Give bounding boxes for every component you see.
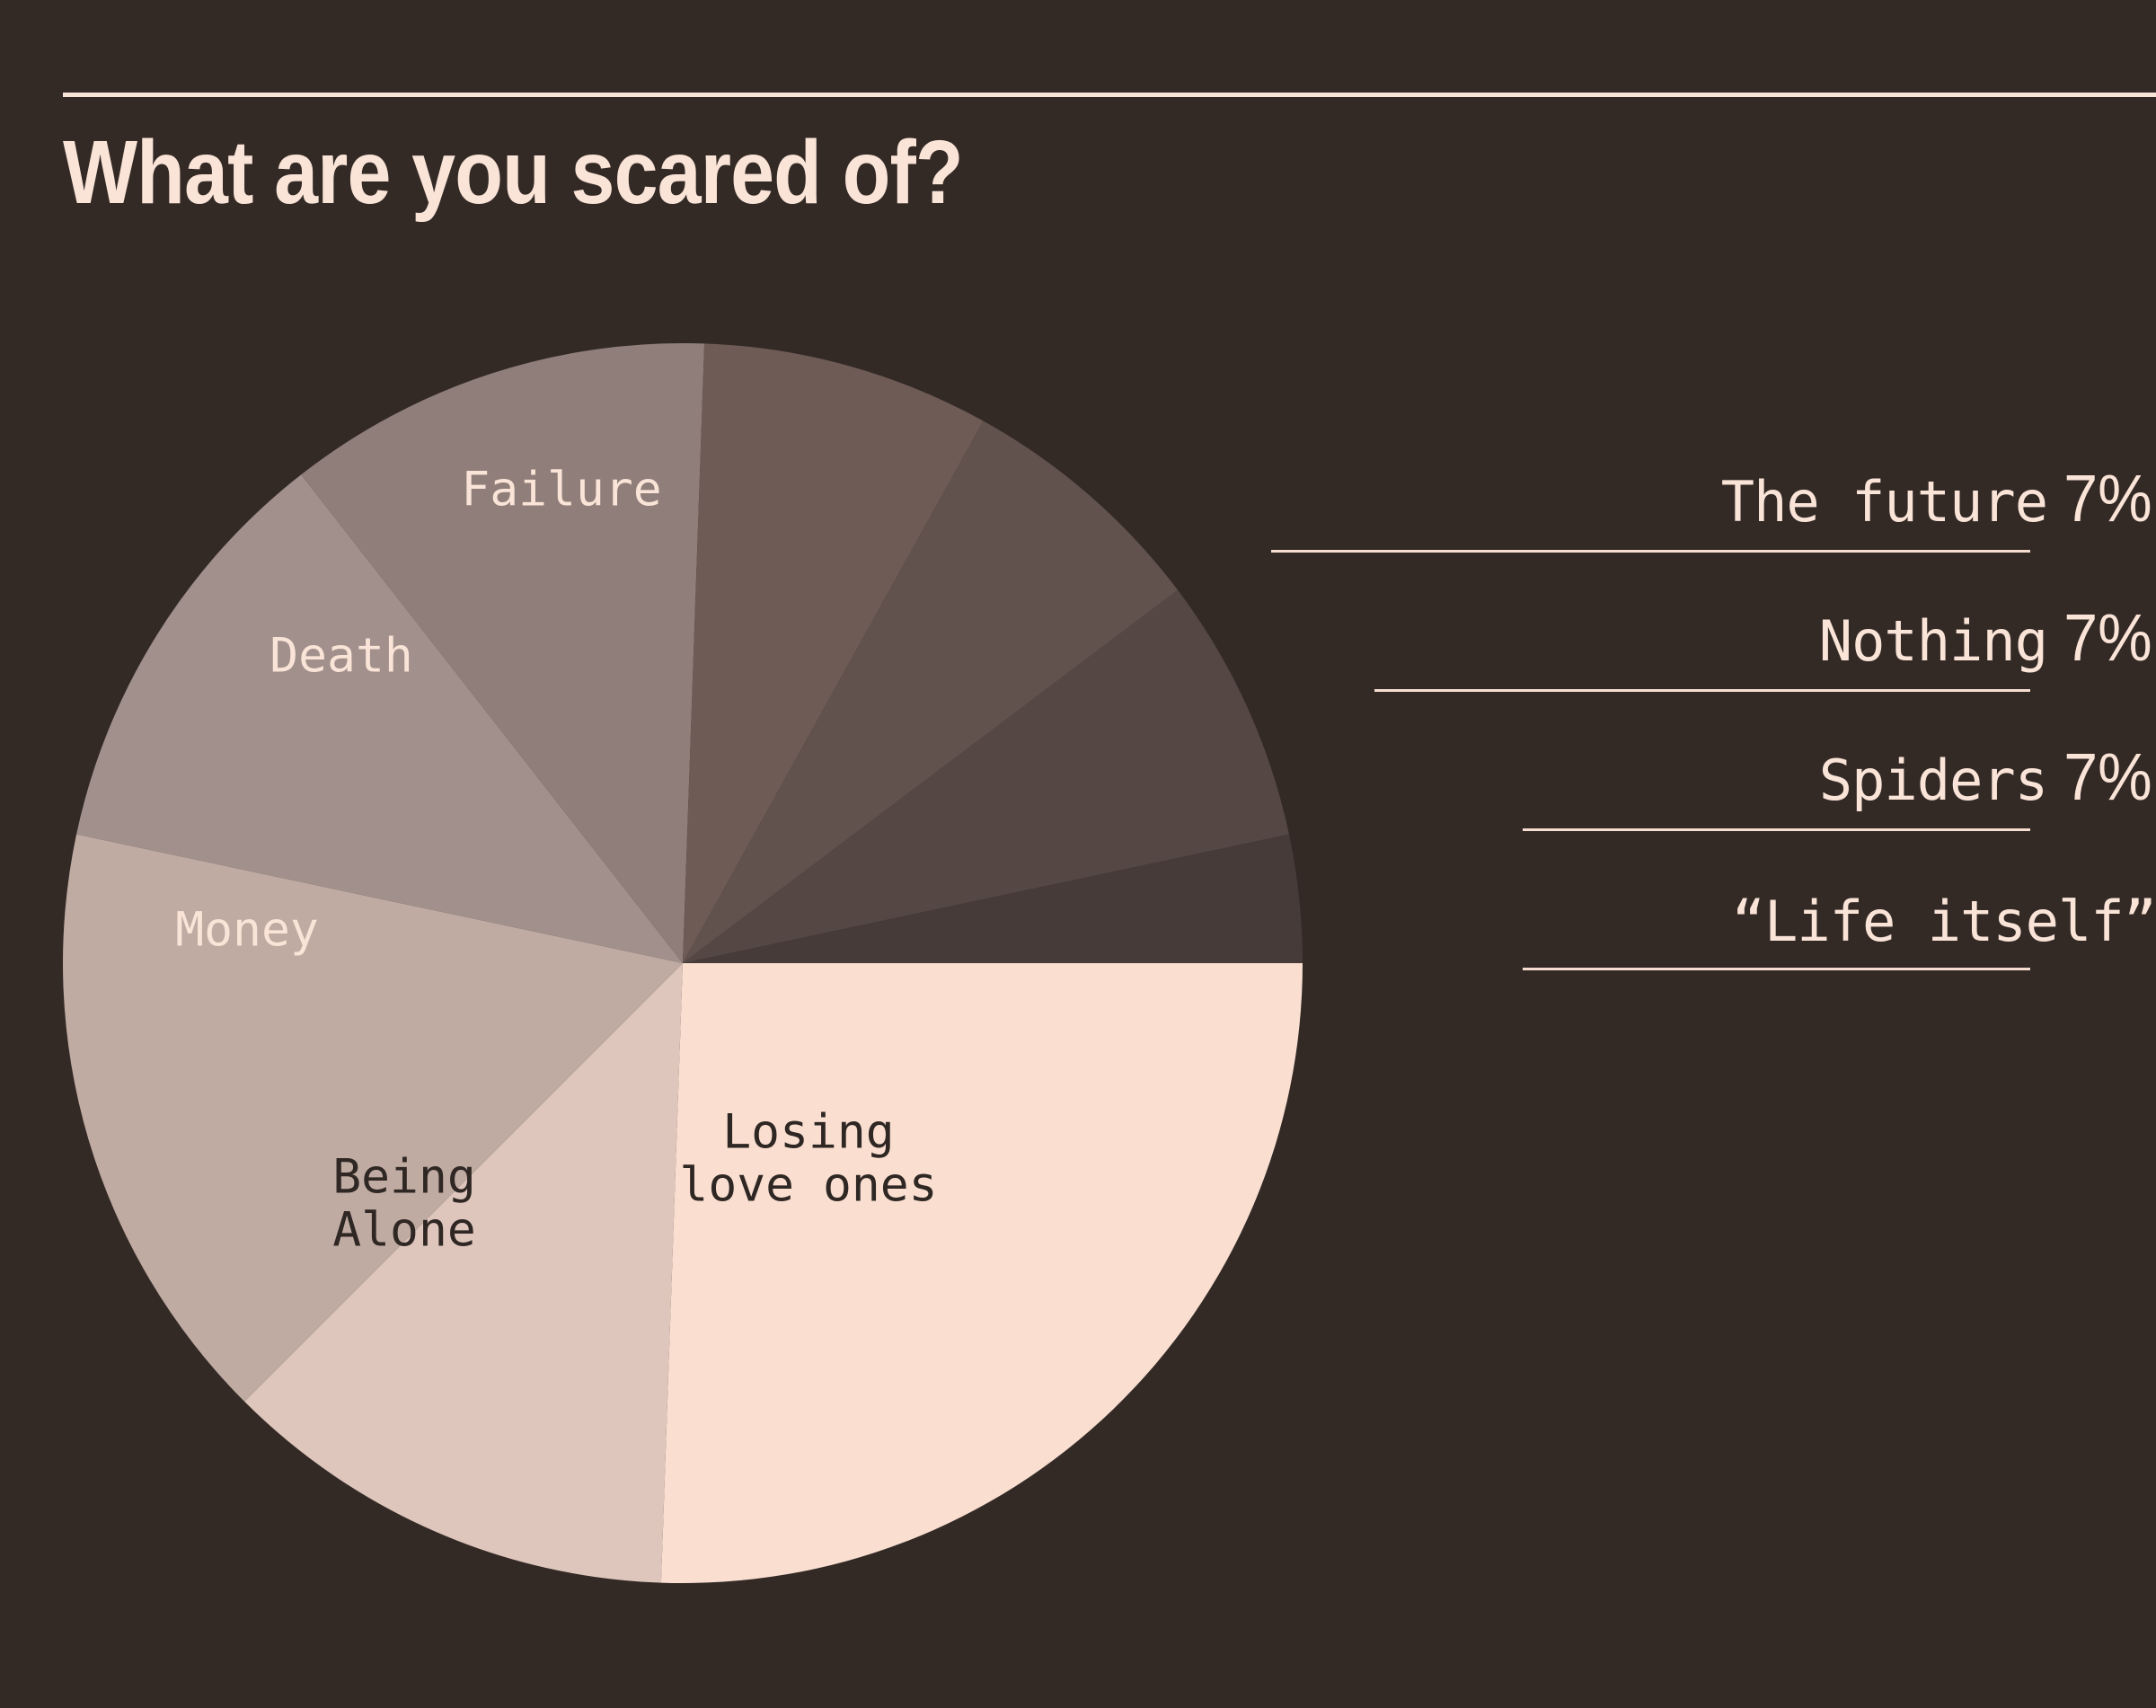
legend: The future7%Nothing7%Spiders7%“Life itse… [1123, 422, 2156, 979]
legend-row: Spiders7% [1123, 701, 2156, 840]
legend-label: Spiders [1819, 748, 2047, 813]
pie-slice-label: Death [269, 629, 413, 682]
legend-text-group: The future7% [1721, 460, 2156, 536]
legend-row: Nothing7% [1123, 562, 2156, 701]
legend-percent: 7% [2063, 739, 2152, 815]
legend-text-group: Spiders7% [1819, 739, 2156, 815]
legend-label: The future [1721, 469, 2047, 535]
infographic-canvas: What are you scared of? Losing love ones… [0, 0, 2156, 1708]
legend-text-group: “Life itself” [1732, 889, 2156, 954]
pie-slice-label: Losing love ones [679, 1106, 937, 1213]
legend-label: Nothing [1819, 608, 2047, 674]
legend-label: “Life itself” [1732, 889, 2156, 954]
legend-leader-line [1523, 828, 2030, 831]
legend-leader-line [1523, 968, 2030, 970]
legend-leader-line [1271, 550, 2030, 553]
pie-slice-label: Failure [461, 463, 661, 516]
legend-row: The future7% [1123, 422, 2156, 562]
pie-slice-label: Money [175, 903, 319, 956]
legend-leader-line [1374, 689, 2030, 692]
legend-row: “Life itself” [1123, 840, 2156, 979]
legend-percent: 7% [2063, 460, 2152, 536]
pie-slice [661, 963, 1303, 1583]
legend-text-group: Nothing7% [1819, 599, 2156, 676]
legend-percent: 7% [2063, 599, 2152, 676]
pie-slice-label: Being Alone [332, 1151, 476, 1258]
